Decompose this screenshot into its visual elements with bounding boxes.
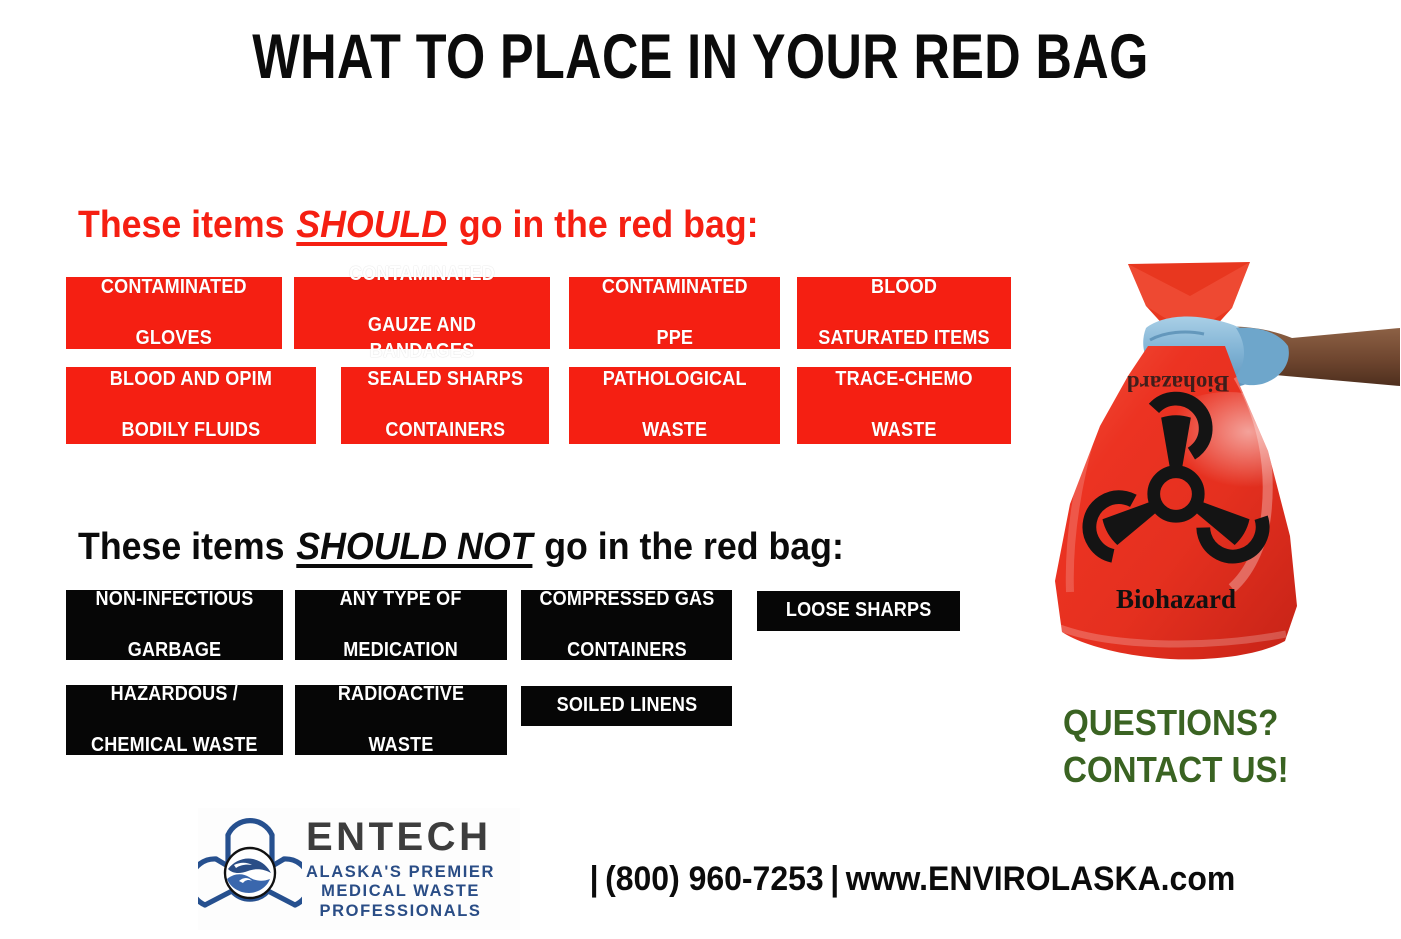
should-item-line2: GLOVES <box>101 326 247 352</box>
infographic-poster: WHAT TO PLACE IN YOUR RED BAG These item… <box>0 0 1401 939</box>
biohazard-icon <box>198 813 302 925</box>
should-item-box: CONTAMINATEDGAUZE AND BANDAGES <box>294 277 550 349</box>
should-not-item-line1: NON-INFECTIOUS <box>96 587 254 613</box>
should-not-item-box: SOILED LINENS <box>521 686 732 726</box>
should-item-box: BLOOD AND OPIMBODILY FLUIDS <box>66 367 316 444</box>
logo-company-name: ENTECH <box>306 817 495 857</box>
logo-tagline-line-2: MEDICAL WASTE <box>306 882 495 901</box>
should-item-line1: PATHOLOGICAL <box>603 367 747 393</box>
should-headline-before: These items <box>78 204 294 246</box>
questions-line-1: QUESTIONS? <box>1063 700 1357 747</box>
should-not-item-line1: SOILED LINENS <box>556 693 697 719</box>
should-not-headline-before: These items <box>78 526 294 568</box>
contact-separator-2: | <box>824 860 846 898</box>
should-headline-emphasis: SHOULD <box>294 204 449 246</box>
bag-biohazard-label: Biohazard <box>1116 584 1236 614</box>
red-biohazard-bag-image: Biohazard <box>1000 236 1400 676</box>
should-not-item-box: LOOSE SHARPS <box>757 591 960 631</box>
entech-logo: ENTECH ALASKA'S PREMIER MEDICAL WASTE PR… <box>198 808 520 930</box>
should-not-item-line1: RADIOACTIVE <box>338 682 464 708</box>
should-item-line2: CONTAINERS <box>367 418 523 444</box>
should-not-item-line2: MEDICATION <box>340 638 462 664</box>
logo-tagline-line-3: PROFESSIONALS <box>306 902 495 921</box>
should-item-box: SEALED SHARPSCONTAINERS <box>341 367 549 444</box>
should-not-item-box: COMPRESSED GASCONTAINERS <box>521 590 732 660</box>
should-not-item-box: NON-INFECTIOUSGARBAGE <box>66 590 283 660</box>
should-not-item-line1: HAZARDOUS / <box>91 682 258 708</box>
should-not-headline-emphasis: SHOULD NOT <box>294 526 534 568</box>
contact-separator-1: | <box>583 860 605 898</box>
questions-callout: QUESTIONS? CONTACT US! <box>1063 700 1383 794</box>
should-item-box: CONTAMINATEDPPE <box>569 277 780 349</box>
should-item-line1: CONTAMINATED <box>101 275 247 301</box>
should-item-box: CONTAMINATEDGLOVES <box>66 277 282 349</box>
should-not-item-box: HAZARDOUS /CHEMICAL WASTE <box>66 685 283 755</box>
should-not-headline: These items SHOULD NOT go in the red bag… <box>78 528 844 566</box>
contact-website[interactable]: www.ENVIROLASKA.com <box>846 860 1235 898</box>
should-item-line1: BLOOD AND OPIM <box>110 367 272 393</box>
should-item-line2: BODILY FLUIDS <box>110 418 272 444</box>
logo-text-block: ENTECH ALASKA'S PREMIER MEDICAL WASTE PR… <box>306 817 495 921</box>
should-not-item-box: RADIOACTIVEWASTE <box>295 685 507 755</box>
questions-line-2: CONTACT US! <box>1063 747 1357 794</box>
should-item-box: PATHOLOGICALWASTE <box>569 367 780 444</box>
logo-tagline-line-1: ALASKA'S PREMIER <box>306 863 495 882</box>
should-headline-after: go in the red bag: <box>449 204 759 246</box>
should-not-item-line1: LOOSE SHARPS <box>786 598 932 624</box>
should-not-item-line2: CONTAINERS <box>539 638 714 664</box>
should-not-item-line2: GARBAGE <box>96 638 254 664</box>
should-not-item-line1: COMPRESSED GAS <box>539 587 714 613</box>
should-item-box: TRACE-CHEMOWASTE <box>797 367 1011 444</box>
should-item-line2: WASTE <box>603 418 747 444</box>
contact-bar: |(800) 960-7253|www.ENVIROLASKA.com <box>583 862 1235 896</box>
should-not-item-line2: CHEMICAL WASTE <box>91 733 258 759</box>
should-item-line1: TRACE-CHEMO <box>835 367 972 393</box>
should-item-line1: BLOOD <box>818 275 990 301</box>
should-not-item-line1: ANY TYPE OF <box>340 587 462 613</box>
should-headline: These items SHOULD go in the red bag: <box>78 206 759 244</box>
should-item-line1: CONTAMINATED <box>602 275 748 301</box>
contact-phone[interactable]: (800) 960-7253 <box>605 860 824 898</box>
should-item-line2: SATURATED ITEMS <box>818 326 990 352</box>
should-item-line2: PPE <box>602 326 748 352</box>
should-item-line2: GAUZE AND BANDAGES <box>314 313 531 364</box>
should-not-item-line2: WASTE <box>338 733 464 759</box>
should-item-box: BLOODSATURATED ITEMS <box>797 277 1011 349</box>
page-title: WHAT TO PLACE IN YOUR RED BAG <box>140 26 1261 89</box>
should-item-line2: WASTE <box>835 418 972 444</box>
should-not-item-box: ANY TYPE OFMEDICATION <box>295 590 507 660</box>
should-item-line1: CONTAMINATED <box>314 262 531 288</box>
should-not-headline-after: go in the red bag: <box>534 526 844 568</box>
should-item-line1: SEALED SHARPS <box>367 367 523 393</box>
logo-tagline: ALASKA'S PREMIER MEDICAL WASTE PROFESSIO… <box>306 863 495 921</box>
